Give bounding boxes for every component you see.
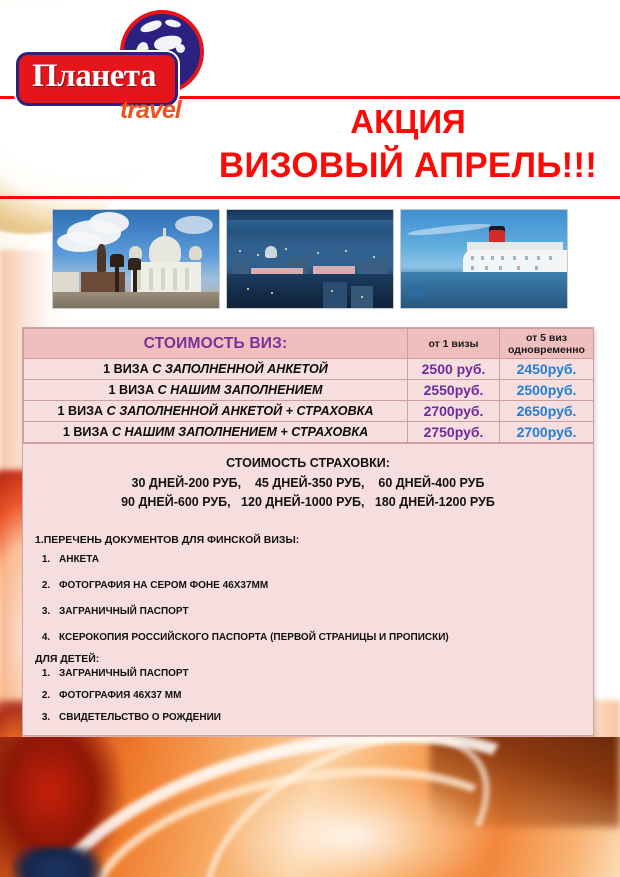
column-header-five-visas: от 5 виз одновременно (500, 329, 594, 359)
column-header-five-visas-line2: одновременно (500, 344, 593, 356)
table-row: 1 ВИЗА С ЗАПОЛНЕННОЙ АНКЕТОЙ + СТРАХОВКА… (24, 401, 594, 422)
list-item: КСЕРОКОПИЯ РОССИЙСКОГО ПАСПОРТА (ПЕРВОЙ … (53, 632, 593, 643)
insurance-line-1: 30 ДНЕЙ-200 РУБ, 45 ДНЕЙ-350 РУБ, 60 ДНЕ… (23, 474, 593, 493)
price-single: 2750руб. (408, 422, 500, 443)
header-bottom-rule (0, 196, 620, 199)
promo-headline: АКЦИЯ ВИЗОВЫЙ АПРЕЛЬ!!! (196, 100, 620, 188)
column-header-single-visa: от 1 визы (408, 329, 500, 359)
kids-documents-heading: ДЛЯ ДЕТЕЙ: (35, 653, 593, 665)
list-item: ЗАГРАНИЧНЫЙ ПАСПОРТ (53, 668, 593, 679)
brand-subtitle: travel (120, 96, 181, 125)
table-row: 1 ВИЗА С НАШИМ ЗАПОЛНЕНИЕМ + СТРАХОВКА 2… (24, 422, 594, 443)
documents-section: 1.ПЕРЕЧЕНЬ ДОКУМЕНТОВ ДЛЯ ФИНСКОЙ ВИЗЫ: … (23, 520, 593, 735)
list-item: АНКЕТА (53, 554, 593, 565)
insurance-line-2: 90 ДНЕЙ-600 РУБ, 120 ДНЕЙ-1000 РУБ, 180 … (23, 493, 593, 512)
list-item: ФОТОГРАФИЯ НА СЕРОМ ФОНЕ 46Х37ММ (53, 580, 593, 591)
price-group: 2700руб. (500, 422, 594, 443)
documents-list: АНКЕТА ФОТОГРАФИЯ НА СЕРОМ ФОНЕ 46Х37ММ … (53, 554, 593, 643)
price-single: 2500 руб. (408, 359, 500, 380)
price-row-label: 1 ВИЗА С НАШИМ ЗАПОЛНЕНИЕМ (24, 380, 408, 401)
brand-logo[interactable]: Планета travel (16, 8, 216, 118)
viking-line-ferry-photo: VIKING LINE (400, 209, 568, 309)
price-single: 2700руб. (408, 401, 500, 422)
price-row-label: 1 ВИЗА С ЗАПОЛНЕННОЙ АНКЕТОЙ (24, 359, 408, 380)
brand-name: Планета (16, 52, 172, 100)
price-group: 2650руб. (500, 401, 594, 422)
price-table: СТОИМОСТЬ ВИЗ: от 1 визы от 5 виз одновр… (23, 328, 594, 443)
price-table-title: СТОИМОСТЬ ВИЗ: (24, 329, 408, 359)
kids-documents-list: ЗАГРАНИЧНЫЙ ПАСПОРТ ФОТОГРАФИЯ 46Х37 ММ … (53, 668, 593, 723)
column-header-five-visas-line1: от 5 виз (500, 332, 593, 344)
table-row: 1 ВИЗА С НАШИМ ЗАПОЛНЕНИЕМ 2550руб. 2500… (24, 380, 594, 401)
promo-line-2: ВИЗОВЫЙ АПРЕЛЬ!!! (196, 144, 620, 188)
list-item: ФОТОГРАФИЯ 46Х37 ММ (53, 690, 593, 701)
table-row: 1 ВИЗА С ЗАПОЛНЕННОЙ АНКЕТОЙ 2500 руб. 2… (24, 359, 594, 380)
price-row-label: 1 ВИЗА С НАШИМ ЗАПОЛНЕНИЕМ + СТРАХОВКА (24, 422, 408, 443)
price-table-header-row: СТОИМОСТЬ ВИЗ: от 1 визы от 5 виз одновр… (24, 329, 594, 359)
helsinki-cathedral-photo (52, 209, 220, 309)
helsinki-skyline-dusk-photo (226, 209, 394, 309)
poster-page: Планета travel АКЦИЯ ВИЗОВЫЙ АПРЕЛЬ!!! (0, 0, 620, 877)
photo-strip: VIKING LINE (52, 209, 572, 309)
insurance-section: СТОИМОСТЬ СТРАХОВКИ: 30 ДНЕЙ-200 РУБ, 45… (23, 443, 593, 520)
price-group: 2450руб. (500, 359, 594, 380)
list-item: ЗАГРАНИЧНЫЙ ПАСПОРТ (53, 606, 593, 617)
price-row-label: 1 ВИЗА С ЗАПОЛНЕННОЙ АНКЕТОЙ + СТРАХОВКА (24, 401, 408, 422)
documents-heading: 1.ПЕРЕЧЕНЬ ДОКУМЕНТОВ ДЛЯ ФИНСКОЙ ВИЗЫ: (35, 534, 593, 546)
bottom-ribbon-decoration (0, 737, 620, 877)
insurance-title: СТОИМОСТЬ СТРАХОВКИ: (23, 456, 593, 470)
promo-line-1: АКЦИЯ (196, 100, 620, 144)
price-group: 2500руб. (500, 380, 594, 401)
list-item: СВИДЕТЕЛЬСТВО О РОЖДЕНИИ (53, 712, 593, 723)
price-single: 2550руб. (408, 380, 500, 401)
